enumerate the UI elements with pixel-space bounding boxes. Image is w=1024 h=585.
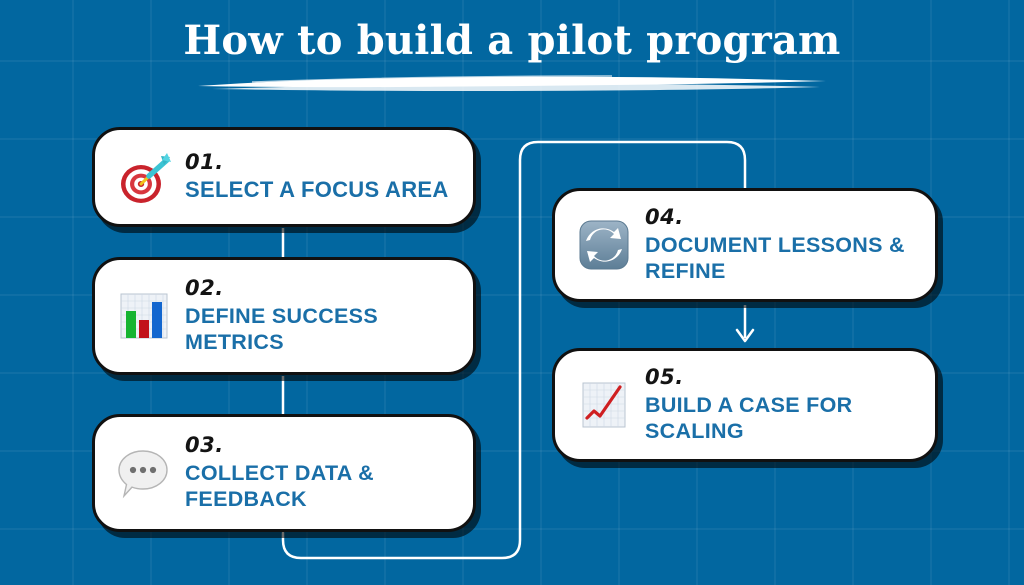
step-card-02[interactable]: 02. DEFINE SUCCESS METRICS — [92, 257, 476, 375]
step-label: COLLECT DATA & FEEDBACK — [185, 460, 457, 512]
step-card-01[interactable]: 01. SELECT A FOCUS AREA — [92, 127, 476, 227]
title-block: How to build a pilot program — [0, 18, 1024, 94]
step-label: DEFINE SUCCESS METRICS — [185, 303, 457, 355]
step-card-05-text: 05. BUILD A CASE FOR SCALING — [645, 366, 919, 444]
step-label: SELECT A FOCUS AREA — [185, 177, 457, 204]
step-card-04[interactable]: 04. DOCUMENT LESSONS & REFINE — [552, 188, 938, 302]
connector-04-to-05 — [737, 305, 753, 341]
step-number: 03. — [185, 434, 457, 456]
step-card-03-text: 03. COLLECT DATA & FEEDBACK — [185, 434, 457, 512]
dart-target-icon — [113, 146, 175, 208]
step-card-02-text: 02. DEFINE SUCCESS METRICS — [185, 277, 457, 355]
step-label: DOCUMENT LESSONS & REFINE — [645, 232, 919, 284]
sync-arrows-icon — [573, 214, 635, 276]
step-card-03[interactable]: 03. COLLECT DATA & FEEDBACK — [92, 414, 476, 532]
step-card-01-text: 01. SELECT A FOCUS AREA — [185, 151, 457, 204]
chart-increasing-icon — [573, 374, 635, 436]
brush-stroke-underline-icon — [192, 72, 832, 94]
step-number: 01. — [185, 151, 457, 173]
step-number: 04. — [645, 206, 919, 228]
speech-balloon-icon — [113, 442, 175, 504]
step-number: 05. — [645, 366, 919, 388]
step-card-04-text: 04. DOCUMENT LESSONS & REFINE — [645, 206, 919, 284]
step-number: 02. — [185, 277, 457, 299]
infographic-canvas: How to build a pilot program — [0, 0, 1024, 585]
step-card-05[interactable]: 05. BUILD A CASE FOR SCALING — [552, 348, 938, 462]
bar-chart-icon — [113, 285, 175, 347]
step-label: BUILD A CASE FOR SCALING — [645, 392, 919, 444]
page-title: How to build a pilot program — [0, 18, 1024, 64]
